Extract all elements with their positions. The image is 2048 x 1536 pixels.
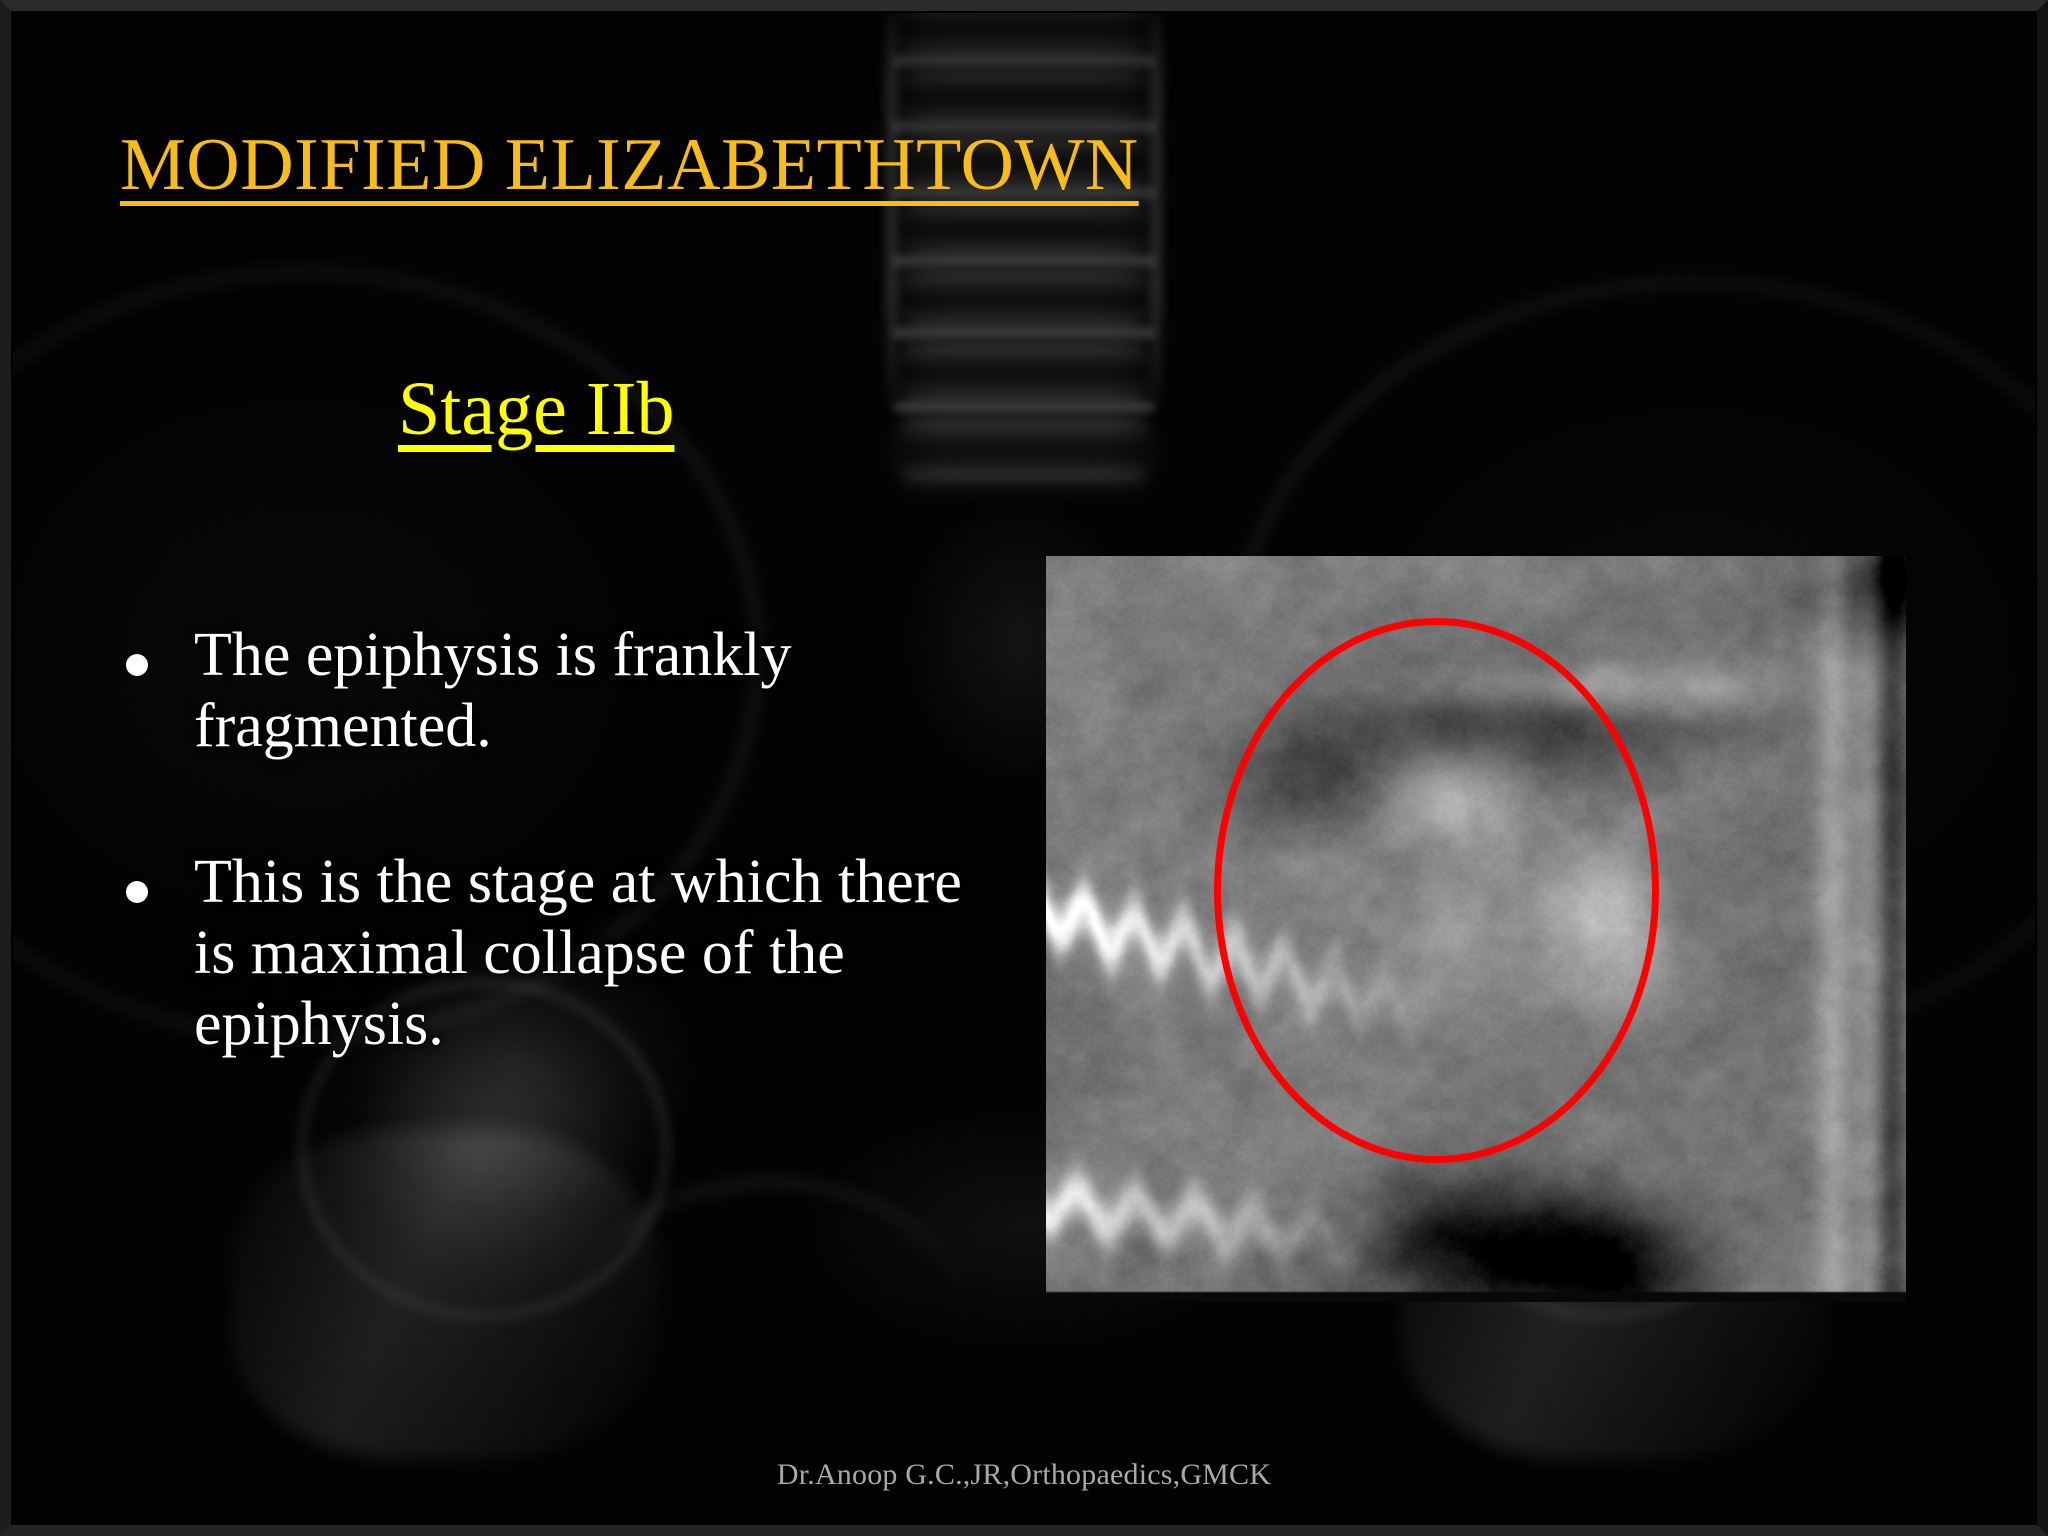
bullet-list: The epiphysis is frankly fragmented. Thi… [118, 620, 1008, 1059]
bullet-text: This is the stage at which there is maxi… [194, 847, 1008, 1059]
list-item: This is the stage at which there is maxi… [118, 847, 1008, 1059]
list-item: The epiphysis is frankly fragmented. [118, 620, 1008, 761]
red-ellipse-annotation [1214, 618, 1659, 1163]
bullet-dot-icon [126, 654, 148, 676]
radiograph-figure [1046, 556, 1906, 1302]
bullet-text: The epiphysis is frankly fragmented. [194, 620, 1008, 761]
slide-subtitle: Stage IIb [398, 370, 674, 450]
slide-footer-credit: Dr.Anoop G.C.,JR,Orthopaedics,GMCK [0, 1458, 2048, 1492]
slide-title: MODIFIED ELIZABETHTOWN [120, 128, 1139, 203]
presentation-slide: MODIFIED ELIZABETHTOWN Stage IIb The epi… [0, 0, 2048, 1536]
bullet-dot-icon [126, 881, 148, 903]
